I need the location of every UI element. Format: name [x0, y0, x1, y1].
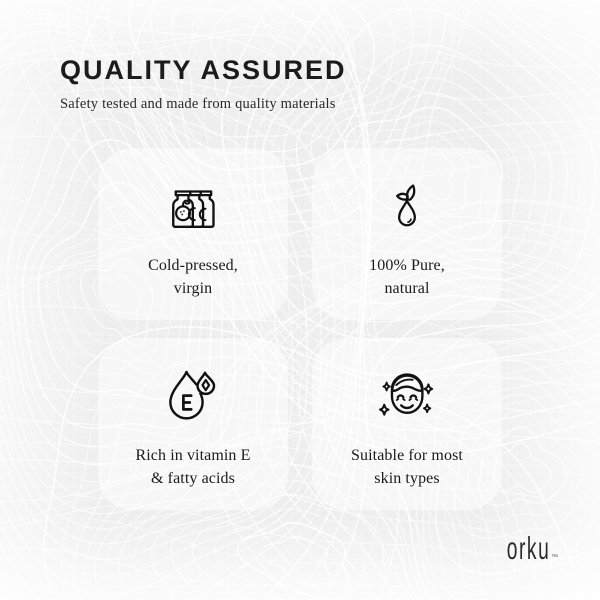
feature-card-cold-pressed: Cold-pressed, virgin [98, 148, 288, 320]
feature-label-line1: Suitable for most [351, 447, 463, 464]
brand-wordmark: orku [506, 532, 550, 564]
feature-card-pure-natural: 100% Pure, natural [312, 148, 502, 320]
brand-logo: orku ™ [480, 533, 558, 564]
feature-label-line2: virgin [174, 280, 213, 297]
feature-card-vitamin-e: Rich in vitamin E & fatty acids [98, 338, 288, 510]
header-block: QUALITY ASSURED Safety tested and made f… [60, 56, 540, 113]
page-subtitle: Safety tested and made from quality mate… [60, 96, 540, 113]
feature-label-line2: natural [384, 280, 429, 297]
feature-label: Suitable for most skin types [351, 444, 463, 490]
feature-grid: Cold-pressed, virgin [98, 148, 502, 510]
feature-label-line2: & fatty acids [151, 470, 235, 487]
feature-card-skin-types: Suitable for most skin types [312, 338, 502, 510]
feature-label: Rich in vitamin E & fatty acids [135, 444, 250, 490]
feature-label-line1: Cold-pressed, [148, 257, 238, 274]
smiling-face-sparkles-icon [375, 364, 439, 428]
feature-label-line2: skin types [374, 470, 439, 487]
trademark-symbol: ™ [551, 554, 558, 561]
promo-graphic: QUALITY ASSURED Safety tested and made f… [0, 0, 600, 600]
feature-label-line1: 100% Pure, [369, 257, 445, 274]
feature-label: Cold-pressed, virgin [148, 254, 238, 300]
leaf-droplet-icon [375, 174, 439, 238]
jars-of-fruit-icon [161, 174, 225, 238]
vitamin-e-droplet-icon [161, 364, 225, 428]
feature-label: 100% Pure, natural [369, 254, 445, 300]
feature-label-line1: Rich in vitamin E [135, 447, 250, 464]
page-title: QUALITY ASSURED [60, 56, 540, 86]
